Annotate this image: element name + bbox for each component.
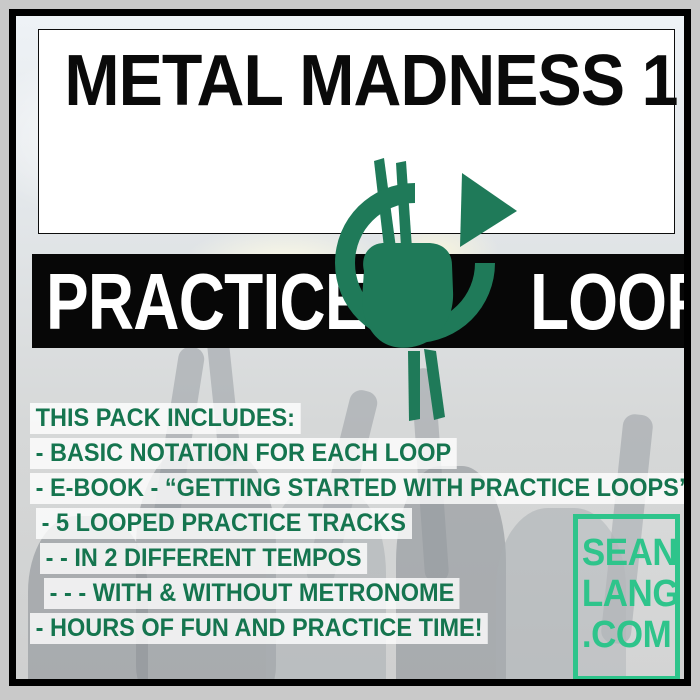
brand-line-sean: SEAN xyxy=(582,533,671,574)
brand-badge[interactable]: SEAN LANG .COM xyxy=(573,514,680,681)
brand-line-lang: LANG xyxy=(582,574,671,615)
list-item: - - - WITH & WITHOUT METRONOME xyxy=(44,579,529,608)
list-item: - - IN 2 DIFFERENT TEMPOS xyxy=(40,544,529,573)
feature-heading: THIS PACK INCLUDES: xyxy=(30,404,528,433)
brand-line-com: .COM xyxy=(582,615,671,656)
subtitle-loops: LOOPS xyxy=(530,260,691,344)
title-plate: METAL MADNESS 1 xyxy=(38,29,675,234)
poster-canvas: METAL MADNESS 1 PRACTICE LOOPS xyxy=(0,0,700,700)
poster-frame: METAL MADNESS 1 PRACTICE LOOPS xyxy=(9,9,691,686)
list-item: - BASIC NOTATION FOR EACH LOOP xyxy=(30,439,528,468)
subtitle-practice: PRACTICE xyxy=(46,260,367,344)
page-title: METAL MADNESS 1 xyxy=(64,42,648,120)
list-item: - E-BOOK - “GETTING STARTED WITH PRACTIC… xyxy=(30,474,528,503)
list-item: - 5 LOOPED PRACTICE TRACKS xyxy=(36,509,529,538)
list-item: - HOURS OF FUN AND PRACTICE TIME! xyxy=(30,614,528,643)
feature-list: THIS PACK INCLUDES: - BASIC NOTATION FOR… xyxy=(30,404,560,649)
subtitle-bar: PRACTICE LOOPS xyxy=(32,254,690,348)
